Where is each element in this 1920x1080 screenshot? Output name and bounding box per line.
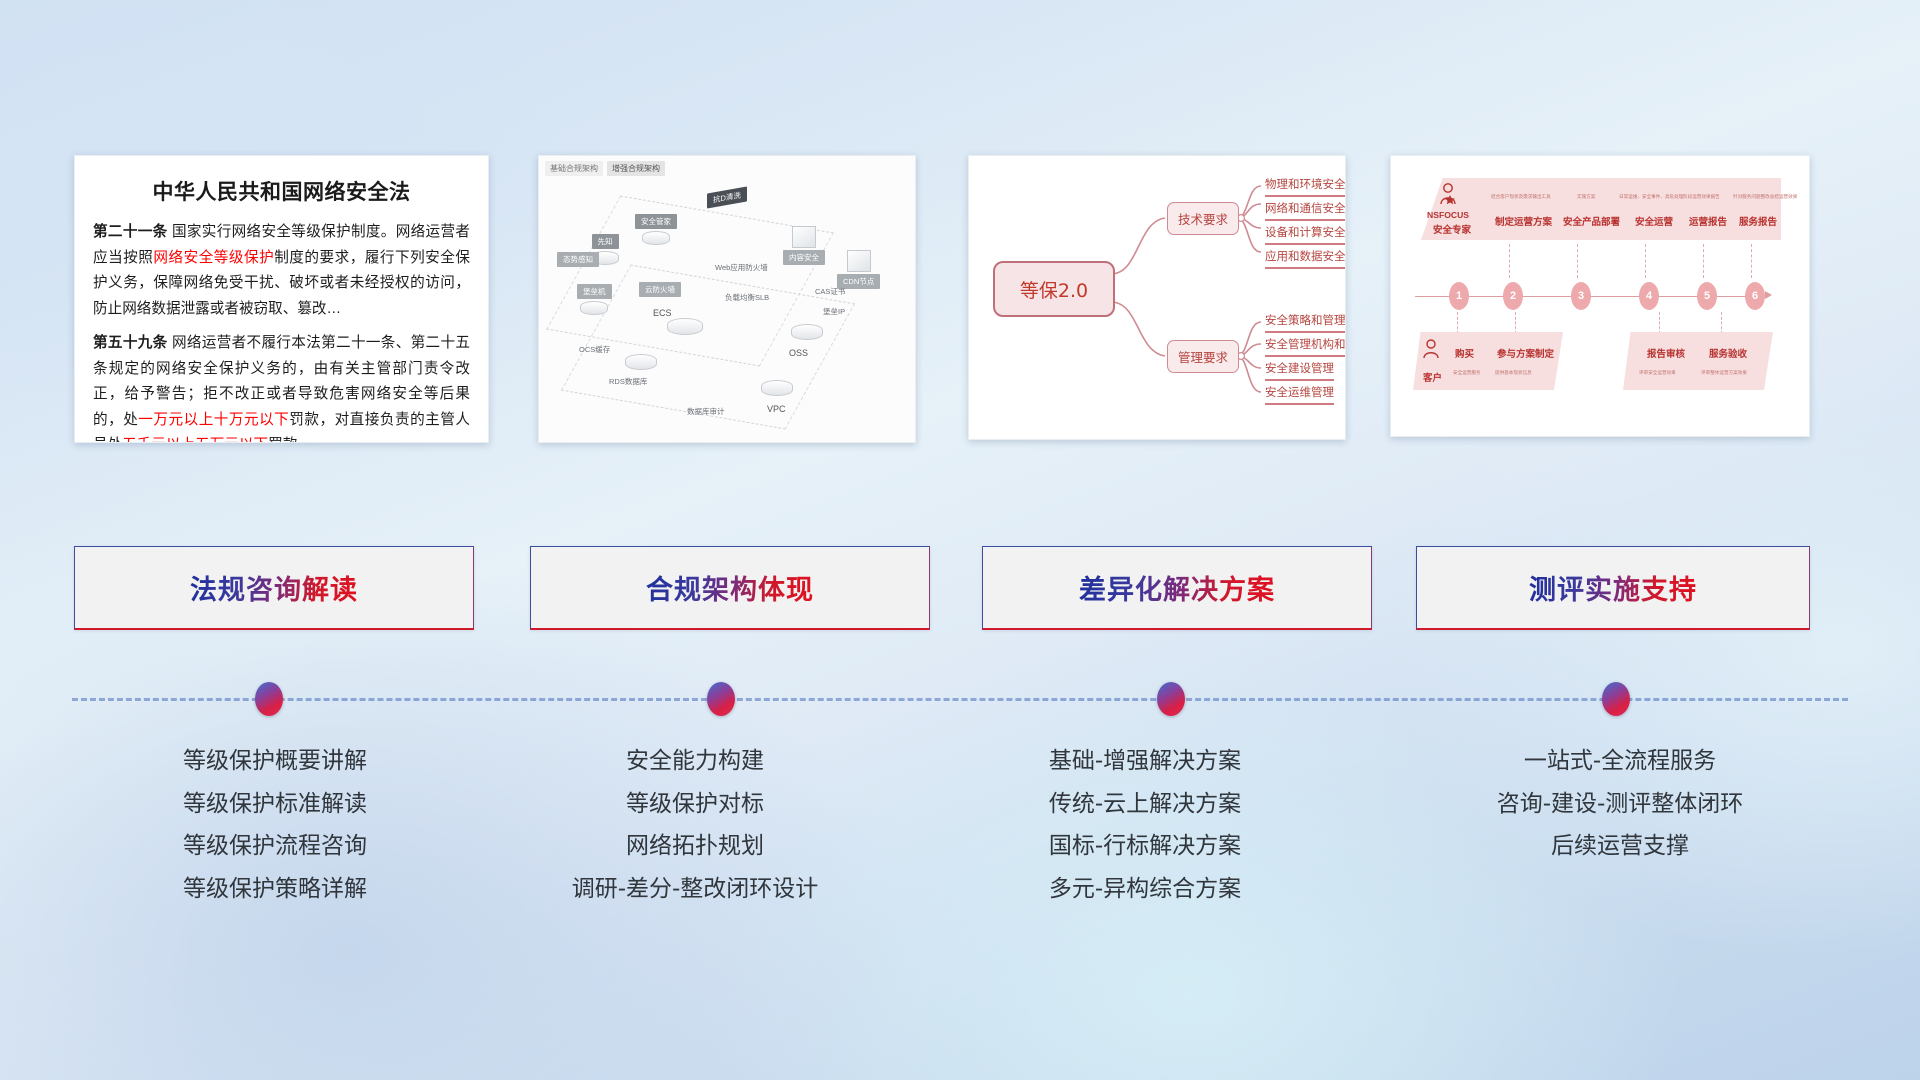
node-security-butler: 安全管家 (635, 214, 677, 245)
top-step-3-title: 安全运营 (1635, 214, 1673, 228)
list-item: 等级保护标准解读 (60, 783, 490, 826)
headline-label-architecture: 合规架构体现 (646, 568, 814, 607)
bottom-step-1-title: 购买 (1455, 346, 1474, 360)
top-band (1421, 178, 1781, 240)
list-item: 等级保护对标 (480, 783, 910, 826)
connector-dash (1577, 244, 1579, 278)
step-dot-6: 6 (1745, 282, 1765, 310)
architecture-canvas: 基础合规架构 增强合规架构 抗D清洗 安全管家 先知 态势感知 (539, 156, 915, 442)
article-59-label: 第五十九条 (93, 335, 168, 351)
chip-cloud-firewall: 云防火墙 (639, 282, 681, 297)
chip-situation-awareness: 态势感知 (557, 252, 599, 267)
headline-row: 法规咨询解读 合规架构体现 差异化解决方案 测评实施支持 (0, 546, 1920, 651)
timeline-rail (0, 690, 1920, 730)
top-step-1-title: 制定运营方案 (1495, 214, 1552, 228)
label-rds: RDS数据库 (609, 376, 647, 387)
law-title: 中华人民共和国网络安全法 (93, 176, 470, 206)
label-db-audit: 数据库审计 (687, 406, 725, 417)
list-item: 国标-行标解决方案 (930, 825, 1360, 868)
chip-xianzhi: 先知 (592, 234, 619, 249)
top-step-1-sub: 结合客户现状及需求输出工具 (1491, 194, 1551, 200)
cylinder-icon (580, 301, 608, 315)
bottom-step-4-sub: 评审整体运营方案效果 (1701, 370, 1747, 376)
step-dot-5: 5 (1697, 282, 1717, 310)
cylinder-icon (667, 318, 703, 335)
mindmap-root-node: 等保2.0 (993, 261, 1115, 317)
bottom-band-right (1623, 332, 1773, 390)
node-content-security: 内容安全 (783, 224, 825, 265)
box-icon (792, 226, 816, 248)
bottom-step-1-sub: 安全运营服务 (1453, 370, 1481, 376)
timeline-node-2[interactable] (707, 682, 735, 716)
customer-person-icon (1421, 338, 1441, 365)
tab-enhanced-architecture[interactable]: 增强合规架构 (607, 161, 665, 176)
chip-bastion: 堡垒机 (577, 284, 612, 299)
list-item: 咨询-建设-测评整体闭环 (1390, 783, 1850, 826)
cylinder-icon (625, 354, 657, 370)
node-cloud-firewall: 云防火墙 (639, 282, 681, 297)
label-waf: Web应用防火墙 (715, 262, 768, 273)
article-21-label: 第二十一条 (93, 224, 168, 240)
top-step-5-sub: 针对服务问题整改总结运营效果 (1733, 194, 1797, 200)
list-item: 等级保护流程咨询 (60, 825, 490, 868)
bullet-column-1: 等级保护概要讲解 等级保护标准解读 等级保护流程咨询 等级保护策略详解 (60, 740, 490, 910)
label-cas: CAS证书 (815, 286, 845, 297)
node-anti-ddos: 抗D清洗 (707, 190, 747, 205)
headline-box-solution[interactable]: 差异化解决方案 (982, 546, 1372, 630)
box-icon (847, 250, 871, 272)
connector-dash (1645, 244, 1647, 278)
list-item: 等级保护策略详解 (60, 868, 490, 911)
node-rds-stack (625, 352, 657, 370)
tab-basic-architecture[interactable]: 基础合规架构 (545, 161, 603, 176)
headline-label-regulation: 法规咨询解读 (190, 568, 358, 607)
architecture-tabs: 基础合规架构 增强合规架构 (545, 161, 665, 176)
timeline-node-1[interactable] (255, 682, 283, 716)
label-ocs-cache: OCS缓存 (579, 344, 610, 355)
connector-dash (1509, 244, 1511, 278)
timeline-arrow-icon (1765, 291, 1772, 299)
top-step-4-sub: 阶段运营效果报告 (1683, 194, 1720, 200)
bottom-step-3-title: 报告审核 (1647, 346, 1685, 360)
expert-person-icon (1437, 182, 1459, 211)
nsfocus-canvas: NSFOCUS 安全专家 结合客户现状及需求输出工具 制定运营方案 实施方案 安… (1391, 156, 1809, 436)
slide-root: 中华人民共和国网络安全法 第二十一条 国家实行网络安全等级保护制度。网络运营者应… (0, 0, 1920, 1080)
headline-box-regulation[interactable]: 法规咨询解读 (74, 546, 474, 630)
architecture-diagram-card[interactable]: 基础合规架构 增强合规架构 抗D清洗 安全管家 先知 态势感知 (538, 155, 916, 443)
bullet-list-2: 安全能力构建 等级保护对标 网络拓扑规划 调研-差分-整改闭环设计 (480, 740, 910, 910)
mindmap-leaf-physical: 物理和环境安全 (1265, 176, 1346, 197)
list-item: 基础-增强解决方案 (930, 740, 1360, 783)
article-59-fine-1: 一万元以上十万元以下 (138, 412, 289, 428)
mindmap-canvas: 等保2.0 技术要求 物理和环境安全 网络和通信安全 设备和计算安全 应用和数据… (969, 156, 1345, 439)
cylinder-icon (791, 324, 823, 340)
bullet-column-2: 安全能力构建 等级保护对标 网络拓扑规划 调研-差分-整改闭环设计 (480, 740, 910, 910)
list-item: 传统-云上解决方案 (930, 783, 1360, 826)
bottom-step-2-title: 参与方案制定 (1497, 346, 1554, 360)
timeline-node-4[interactable] (1602, 682, 1630, 716)
top-step-3-sub: 日常运维、安全事件、高危处理 (1619, 194, 1683, 200)
node-ecs-stack (667, 316, 703, 335)
bottom-step-4-title: 服务验收 (1709, 346, 1747, 360)
label-slb: 负载均衡SLB (725, 292, 769, 303)
node-cdn: CDN节点 (837, 248, 880, 289)
headline-label-assessment: 测评实施支持 (1529, 568, 1697, 607)
mindmap-branch-technical: 技术要求 (1167, 202, 1239, 235)
mindmap-leaf-network: 网络和通信安全 (1265, 200, 1346, 221)
chip-anti-ddos: 抗D清洗 (707, 186, 747, 208)
connector-dash (1721, 312, 1723, 334)
mindmap-leaf-device: 设备和计算安全 (1265, 224, 1346, 245)
list-item: 网络拓扑规划 (480, 825, 910, 868)
article-21-highlight: 网络安全等级保护 (153, 250, 274, 266)
label-jumper-ip: 堡垒IP (823, 306, 845, 317)
expert-brand-label: NSFOCUS (1427, 210, 1469, 220)
bullet-column-4: 一站式-全流程服务 咨询-建设-测评整体闭环 后续运营支撑 (1390, 740, 1850, 868)
connector-dash (1703, 244, 1705, 278)
headline-box-assessment[interactable]: 测评实施支持 (1416, 546, 1810, 630)
connector-dash (1751, 244, 1753, 278)
law-body: 中华人民共和国网络安全法 第二十一条 国家实行网络安全等级保护制度。网络运营者应… (75, 156, 488, 442)
timeline-node-3[interactable] (1157, 682, 1185, 716)
thumbnail-row: 中华人民共和国网络安全法 第二十一条 国家实行网络安全等级保护制度。网络运营者应… (0, 0, 1920, 450)
mindmap-leaf-org: 安全管理机构和人员 (1265, 336, 1346, 357)
step-dot-1: 1 (1449, 282, 1469, 310)
connector-dash (1515, 312, 1517, 334)
timeline-dashed-line (72, 698, 1848, 701)
bullet-list-4: 一站式-全流程服务 咨询-建设-测评整体闭环 后续运营支撑 (1390, 740, 1850, 868)
mindmap-card[interactable]: 等保2.0 技术要求 物理和环境安全 网络和通信安全 设备和计算安全 应用和数据… (968, 155, 1346, 440)
mindmap-branch-management: 管理要求 (1167, 340, 1239, 373)
bullet-list-1: 等级保护概要讲解 等级保护标准解读 等级保护流程咨询 等级保护策略详解 (60, 740, 490, 910)
top-step-2-sub: 实施方案 (1577, 194, 1595, 200)
list-item: 后续运营支撑 (1390, 825, 1850, 868)
article-59-fine-2: 五千元以上五万元以下 (122, 437, 268, 443)
top-step-4-title: 运营报告 (1689, 214, 1727, 228)
connector-dash (1659, 312, 1661, 334)
headline-label-solution: 差异化解决方案 (1079, 568, 1275, 607)
mindmap-leaf-policy: 安全策略和管理制度 (1265, 312, 1346, 333)
cylinder-icon (761, 380, 793, 396)
top-step-2-title: 安全产品部署 (1563, 214, 1620, 228)
step-dot-2: 2 (1503, 282, 1523, 310)
nsfocus-timeline-card[interactable]: NSFOCUS 安全专家 结合客户现状及需求输出工具 制定运营方案 实施方案 安… (1390, 155, 1810, 437)
bullet-list-3: 基础-增强解决方案 传统-云上解决方案 国标-行标解决方案 多元-异构综合方案 (930, 740, 1360, 910)
customer-role-label: 客户 (1423, 370, 1442, 384)
label-vpc: VPC (767, 404, 786, 414)
list-item: 调研-差分-整改闭环设计 (480, 868, 910, 911)
step-dot-4: 4 (1639, 282, 1659, 310)
law-article-21: 第二十一条 国家实行网络安全等级保护制度。网络运营者应当按照网络安全等级保护制度… (93, 220, 470, 322)
article-59-post: 罚款。 (268, 437, 312, 443)
list-item: 等级保护概要讲解 (60, 740, 490, 783)
top-step-5-title: 服务报告 (1739, 214, 1777, 228)
list-item: 一站式-全流程服务 (1390, 740, 1850, 783)
step-dot-3: 3 (1571, 282, 1591, 310)
mindmap-leaf-construction: 安全建设管理 (1265, 360, 1334, 381)
bottom-step-3-sub: 评审安全运营效果 (1639, 370, 1676, 376)
node-vpc-stack (761, 378, 793, 396)
chip-content-security: 内容安全 (783, 250, 825, 265)
headline-box-architecture[interactable]: 合规架构体现 (530, 546, 930, 630)
chip-security-butler: 安全管家 (635, 214, 677, 229)
label-oss: OSS (789, 348, 808, 358)
law-text-card[interactable]: 中华人民共和国网络安全法 第二十一条 国家实行网络安全等级保护制度。网络运营者应… (74, 155, 489, 443)
node-oss-stack (791, 322, 823, 340)
cylinder-icon (642, 231, 670, 245)
bullet-column-3: 基础-增强解决方案 传统-云上解决方案 国标-行标解决方案 多元-异构综合方案 (930, 740, 1360, 910)
expert-role-label: 安全专家 (1433, 222, 1471, 236)
bottom-step-2-sub: 提供基本现状信息 (1495, 370, 1532, 376)
node-situation-awareness: 态势感知 (557, 252, 599, 267)
bullet-columns: 等级保护概要讲解 等级保护标准解读 等级保护流程咨询 等级保护策略详解 安全能力… (0, 740, 1920, 970)
law-article-59: 第五十九条 网络运营者不履行本法第二十一条、第二十五条规定的网络安全保护义务的，… (93, 331, 470, 443)
connector-dash (1457, 312, 1459, 334)
list-item: 多元-异构综合方案 (930, 868, 1360, 911)
list-item: 安全能力构建 (480, 740, 910, 783)
mindmap-leaf-application: 应用和数据安全 (1265, 248, 1346, 269)
mindmap-leaf-operation: 安全运维管理 (1265, 384, 1334, 405)
node-bastion: 堡垒机 (577, 284, 612, 315)
